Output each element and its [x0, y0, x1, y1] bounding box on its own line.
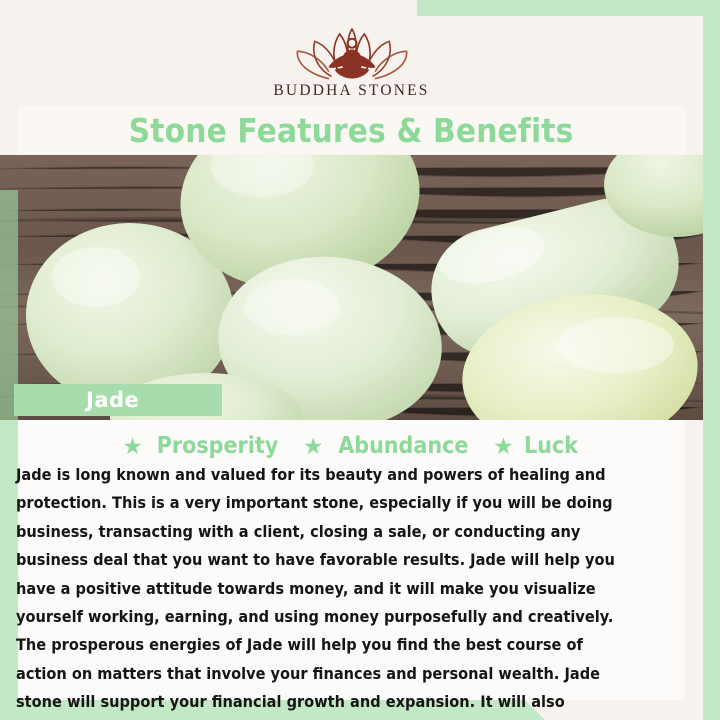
brand-name: BUDDHA STONES — [273, 82, 429, 100]
keyword-label: Prosperity — [157, 433, 278, 459]
star-icon: ★ — [303, 435, 324, 458]
description-text: Jade is long known and valued for its be… — [16, 461, 628, 720]
keyword-item: ★ Prosperity — [122, 433, 285, 459]
title-banner: Stone Features & Benefits — [18, 106, 685, 154]
frame-right-bar — [703, 0, 720, 720]
page-title: Stone Features & Benefits — [129, 111, 574, 150]
jade-stones-photo — [0, 155, 703, 420]
keyword-item: ★ Abundance — [303, 433, 475, 459]
keyword-item: ★ Luck — [493, 433, 581, 459]
stone-name-label: Jade — [86, 388, 139, 412]
lotus-meditation-icon — [290, 24, 414, 80]
brand-header: BUDDHA STONES — [0, 16, 703, 106]
star-icon: ★ — [122, 435, 143, 458]
keyword-label: Abundance — [338, 433, 468, 459]
frame-top-bar — [417, 0, 720, 16]
stone-name-banner: Jade — [14, 384, 222, 416]
star-icon: ★ — [493, 435, 514, 458]
infographic-page: BUDDHA STONES Stone Features & Benefits — [0, 0, 720, 720]
keyword-list: ★ Prosperity ★ Abundance ★ Luck — [18, 430, 685, 462]
keyword-label: Luck — [524, 433, 578, 459]
